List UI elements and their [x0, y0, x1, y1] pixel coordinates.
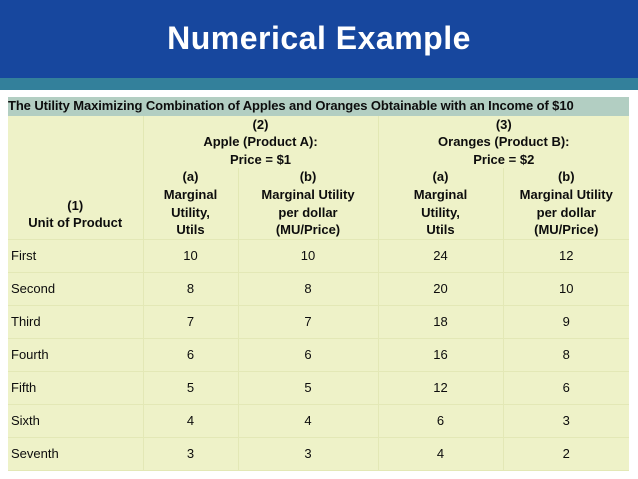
cell-apple-mu: 8 [143, 272, 238, 305]
cell-orange-mu: 4 [378, 437, 503, 470]
cell-orange-mu-per-dollar: 12 [503, 239, 629, 272]
table-row: Second 8 8 20 10 [8, 272, 629, 305]
group-header-apple: (2) Apple (Product A): Price = $1 [143, 116, 378, 169]
column-header-unit-number: (1) [8, 197, 143, 215]
table-row: First 10 10 24 12 [8, 239, 629, 272]
column-header-apple-b-line2: per dollar [239, 204, 378, 222]
cell-apple-mu-per-dollar: 4 [238, 404, 378, 437]
column-header-apple-a-line3: Utils [144, 221, 238, 239]
cell-orange-mu-per-dollar: 10 [503, 272, 629, 305]
table-caption: The Utility Maximizing Combination of Ap… [8, 97, 629, 116]
title-accent-strip [0, 78, 638, 90]
slide-title-bar: Numerical Example [0, 0, 638, 78]
table-subheader-row: (1) Unit of Product (a) Marginal Utility… [8, 168, 629, 239]
table-row: Third 7 7 18 9 [8, 305, 629, 338]
cell-orange-mu-per-dollar: 8 [503, 338, 629, 371]
column-header-orange-b-line2: per dollar [504, 204, 630, 222]
column-header-orange-b-letter: (b) [504, 168, 630, 186]
cell-orange-mu-per-dollar: 6 [503, 371, 629, 404]
column-header-apple-b-letter: (b) [239, 168, 378, 186]
table-group-header-row: (2) Apple (Product A): Price = $1 (3) Or… [8, 116, 629, 169]
cell-orange-mu: 6 [378, 404, 503, 437]
cell-unit: Fourth [8, 338, 143, 371]
cell-apple-mu-per-dollar: 7 [238, 305, 378, 338]
cell-orange-mu: 24 [378, 239, 503, 272]
cell-unit: Sixth [8, 404, 143, 437]
column-header-apple-a-line1: Marginal [144, 186, 238, 204]
column-header-orange-b-line3: (MU/Price) [504, 221, 630, 239]
cell-apple-mu-per-dollar: 6 [238, 338, 378, 371]
cell-orange-mu: 18 [378, 305, 503, 338]
cell-apple-mu-per-dollar: 10 [238, 239, 378, 272]
cell-unit: Second [8, 272, 143, 305]
page-title: Numerical Example [167, 21, 471, 56]
group-header-orange: (3) Oranges (Product B): Price = $2 [378, 116, 629, 169]
cell-apple-mu: 4 [143, 404, 238, 437]
column-header-apple-b-line1: Marginal Utility [239, 186, 378, 204]
cell-apple-mu: 7 [143, 305, 238, 338]
column-header-apple-mu-per-dollar: (b) Marginal Utility per dollar (MU/Pric… [238, 168, 378, 239]
column-header-orange-b-line1: Marginal Utility [504, 186, 630, 204]
table-row: Sixth 4 4 6 3 [8, 404, 629, 437]
cell-orange-mu-per-dollar: 3 [503, 404, 629, 437]
table-row: Seventh 3 3 4 2 [8, 437, 629, 470]
cell-apple-mu: 5 [143, 371, 238, 404]
group-header-apple-number: (2) [144, 116, 378, 134]
column-header-apple-b-line3: (MU/Price) [239, 221, 378, 239]
cell-apple-mu-per-dollar: 8 [238, 272, 378, 305]
table-row: Fourth 6 6 16 8 [8, 338, 629, 371]
cell-unit: Seventh [8, 437, 143, 470]
group-header-apple-price: Price = $1 [144, 151, 378, 169]
utility-table: The Utility Maximizing Combination of Ap… [8, 97, 629, 471]
column-header-apple-a-letter: (a) [144, 168, 238, 186]
column-header-orange-a-line2: Utility, [379, 204, 503, 222]
group-header-blank [8, 116, 143, 169]
group-header-apple-name: Apple (Product A): [144, 133, 378, 151]
table-caption-row: The Utility Maximizing Combination of Ap… [8, 97, 629, 116]
cell-orange-mu-per-dollar: 2 [503, 437, 629, 470]
cell-apple-mu: 3 [143, 437, 238, 470]
cell-apple-mu: 10 [143, 239, 238, 272]
cell-apple-mu-per-dollar: 5 [238, 371, 378, 404]
cell-orange-mu: 12 [378, 371, 503, 404]
column-header-orange-a-letter: (a) [379, 168, 503, 186]
cell-apple-mu-per-dollar: 3 [238, 437, 378, 470]
cell-unit: Fifth [8, 371, 143, 404]
column-header-orange-mu-per-dollar: (b) Marginal Utility per dollar (MU/Pric… [503, 168, 629, 239]
cell-unit: First [8, 239, 143, 272]
table-row: Fifth 5 5 12 6 [8, 371, 629, 404]
cell-apple-mu: 6 [143, 338, 238, 371]
cell-orange-mu: 16 [378, 338, 503, 371]
column-header-orange-a-line1: Marginal [379, 186, 503, 204]
group-header-orange-name: Oranges (Product B): [379, 133, 630, 151]
column-header-orange-marginal-utility: (a) Marginal Utility, Utils [378, 168, 503, 239]
column-header-orange-a-line3: Utils [379, 221, 503, 239]
utility-table-container: The Utility Maximizing Combination of Ap… [8, 97, 629, 471]
cell-orange-mu: 20 [378, 272, 503, 305]
column-header-apple-marginal-utility: (a) Marginal Utility, Utils [143, 168, 238, 239]
cell-unit: Third [8, 305, 143, 338]
column-header-unit-of-product: (1) Unit of Product [8, 168, 143, 239]
group-header-orange-price: Price = $2 [379, 151, 630, 169]
column-header-apple-a-line2: Utility, [144, 204, 238, 222]
column-header-unit-label: Unit of Product [8, 214, 143, 232]
cell-orange-mu-per-dollar: 9 [503, 305, 629, 338]
group-header-orange-number: (3) [379, 116, 630, 134]
